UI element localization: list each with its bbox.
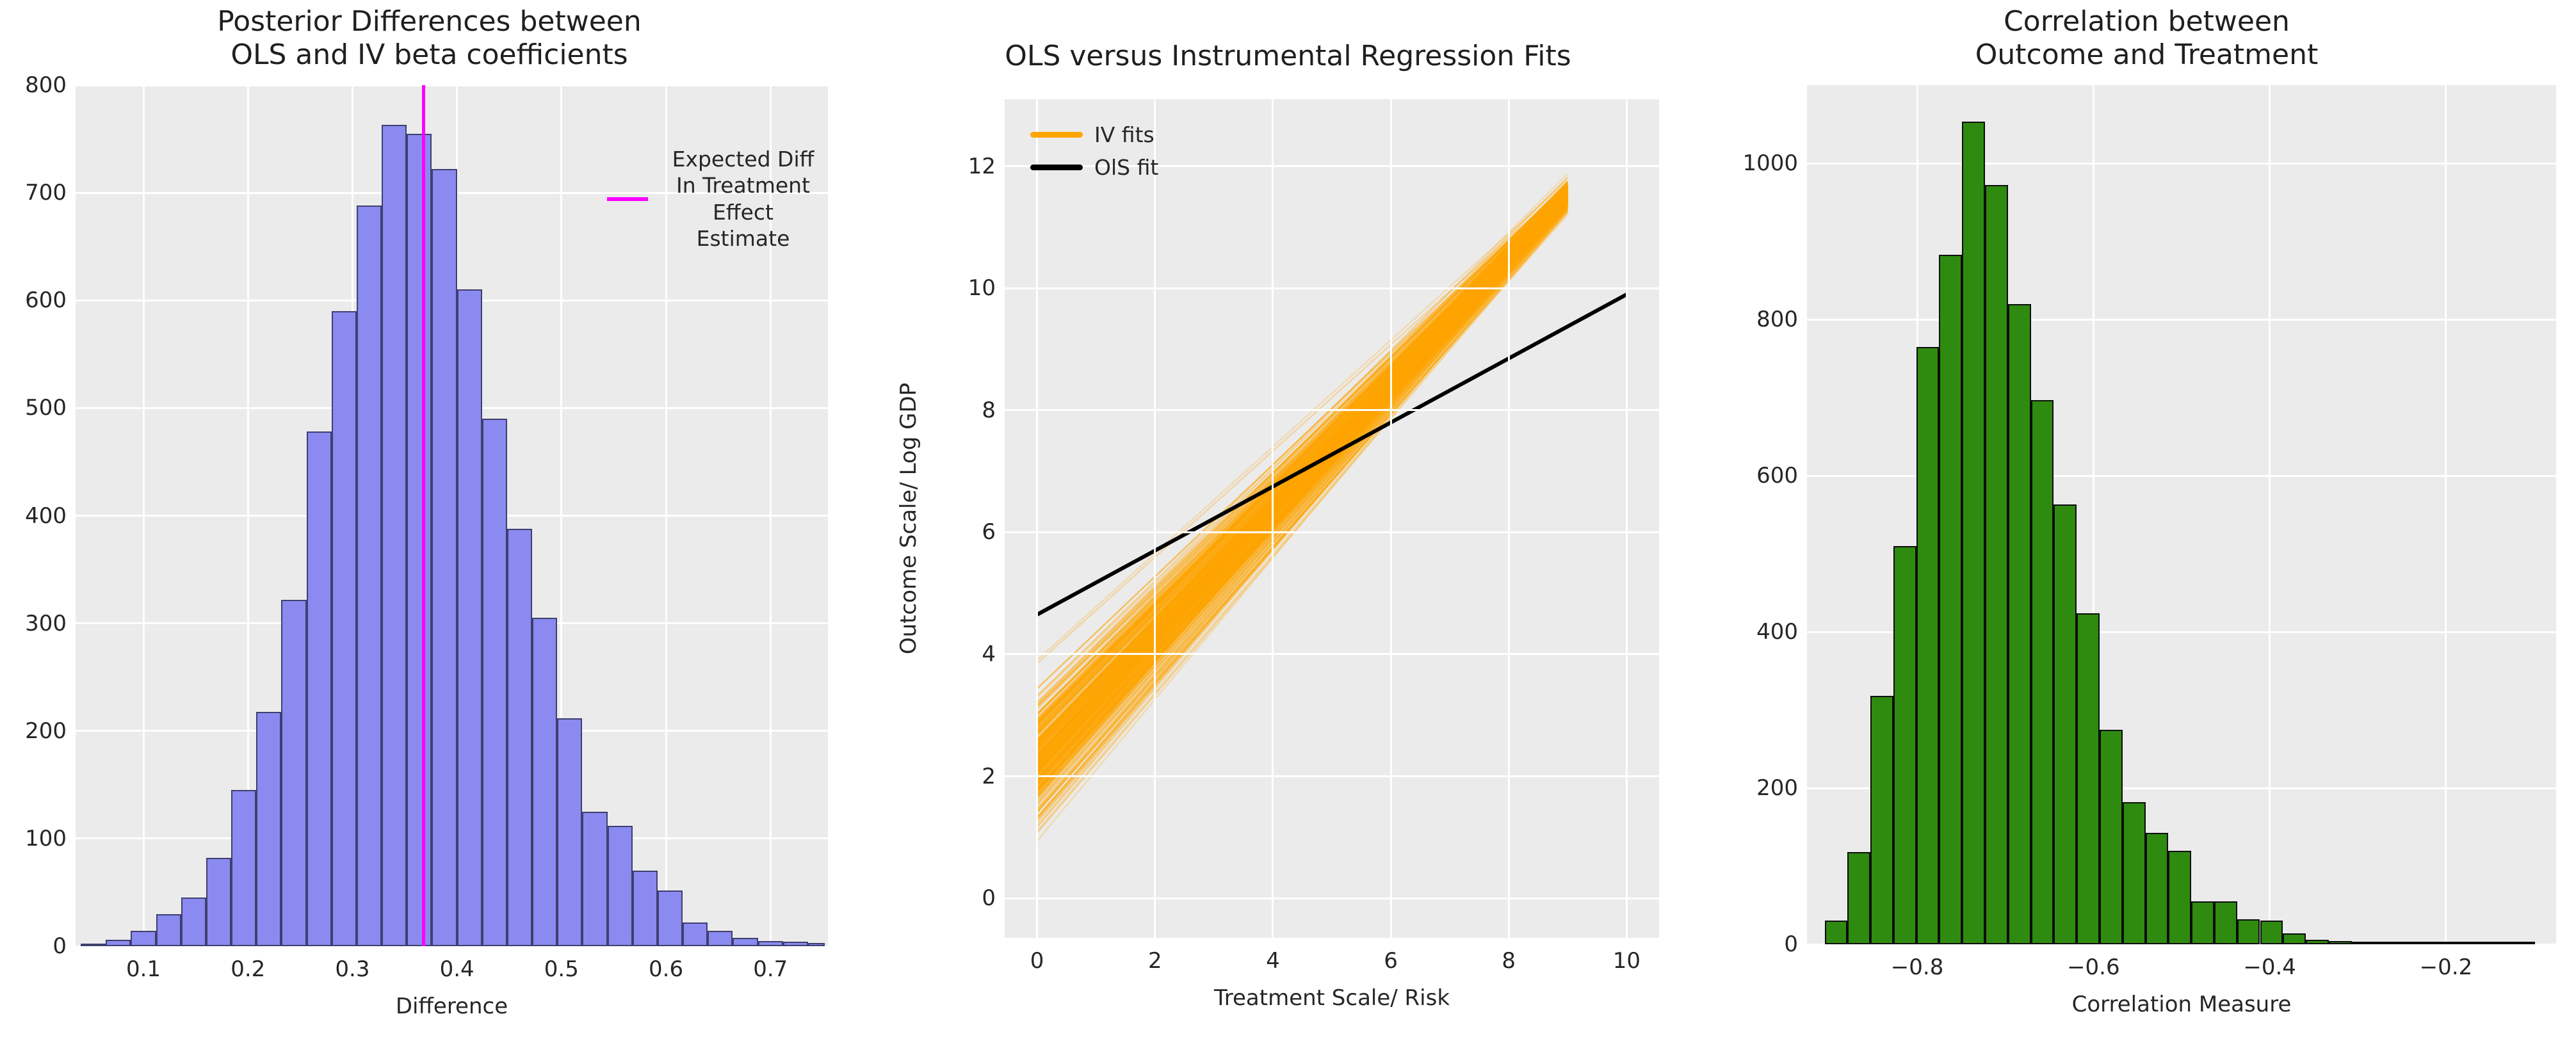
y-axis-tick-label: 12 (968, 154, 996, 179)
histogram-bar (156, 914, 181, 946)
histogram-bar (1870, 696, 1893, 944)
gridline-horizontal (1005, 898, 1659, 899)
histogram-bar (1962, 122, 1985, 944)
panel1-title: Posterior Differences between OLS and IV… (0, 5, 859, 72)
iv-fits-legend-label: IV fits (1094, 122, 1154, 148)
gridline-vertical (1626, 99, 1628, 938)
y-axis-tick-label: 1000 (1742, 150, 1798, 176)
gridline-horizontal (1005, 409, 1659, 411)
histogram-bar (1825, 921, 1848, 944)
y-axis-tick-label: 200 (1756, 775, 1798, 801)
panel2-y-axis-label: Outcome Scale/ Log GDP (896, 383, 921, 654)
histogram-bar (382, 125, 407, 946)
panel2-x-axis-label: Treatment Scale/ Risk (1005, 985, 1659, 1011)
histogram-bar (106, 940, 131, 946)
x-axis-tick-label: 0.7 (753, 956, 788, 982)
histogram-bar (2168, 851, 2191, 944)
panel3-axes-background (1807, 85, 2556, 944)
histogram-bar (507, 529, 532, 946)
histogram-bar (2123, 802, 2146, 944)
histogram-bar (1893, 546, 1916, 944)
y-axis-tick-label: 200 (25, 718, 67, 744)
panel2-plot-area: IV fits OlS fit Treatment Scale/ Risk Ou… (1005, 99, 1659, 938)
panel2-axes-background (1005, 99, 1659, 938)
histogram-bar (2329, 941, 2352, 944)
panel2-title: OLS versus Instrumental Regression Fits (859, 40, 1717, 73)
x-axis-tick-label: −0.6 (2067, 954, 2120, 980)
histogram-bar (2443, 942, 2467, 944)
panel-ols-versus-iv-fits: OLS versus Instrumental Regression Fits … (859, 0, 1717, 1039)
gridline-vertical (1390, 99, 1392, 938)
gridline-horizontal (1005, 653, 1659, 655)
y-axis-tick-label: 400 (25, 503, 67, 529)
histogram-bar (808, 943, 825, 946)
x-axis-tick-label: 0 (1030, 948, 1044, 974)
panel3-x-axis-label: Correlation Measure (1807, 992, 2556, 1017)
y-axis-tick-label: 600 (1756, 463, 1798, 488)
ols-fit-line (1037, 294, 1627, 615)
x-axis-tick-label: 0.3 (335, 956, 369, 982)
histogram-bar (758, 941, 783, 946)
histogram-bar (2489, 942, 2512, 944)
iv-fit-line (1037, 211, 1568, 817)
iv-fits-line-swatch (1030, 132, 1083, 138)
expected-difference-vline (422, 85, 425, 946)
y-axis-tick-label: 500 (25, 395, 67, 421)
expected-diff-line-swatch (607, 197, 648, 201)
histogram-bar (708, 931, 733, 946)
histogram-bar (608, 826, 633, 946)
iv-fit-line (1037, 177, 1568, 696)
iv-fit-line (1037, 197, 1568, 750)
gridline-vertical (2269, 85, 2271, 944)
y-axis-tick-label: 4 (982, 641, 996, 667)
histogram-bar (783, 942, 808, 946)
panel3-title: Correlation between Outcome and Treatmen… (1717, 5, 2576, 72)
y-axis-tick-label: 800 (1756, 307, 1798, 332)
histogram-bar (2397, 942, 2420, 944)
histogram-bar (482, 419, 507, 946)
panel1-legend: Expected Diff In Treatment Effect Estima… (607, 146, 828, 252)
histogram-bar (1985, 185, 2008, 944)
figure-three-panel-regression-diagnostics: Posterior Differences between OLS and IV… (0, 0, 2576, 1039)
gridline-horizontal (1005, 287, 1659, 289)
histogram-bar (407, 134, 432, 946)
histogram-bar (2260, 921, 2283, 944)
histogram-bar (683, 922, 708, 946)
histogram-bar (2512, 942, 2535, 944)
histogram-bar (206, 858, 231, 946)
iv-fit-line (1037, 198, 1568, 769)
gridline-horizontal (1807, 319, 2556, 321)
regression-fit-lines (1005, 99, 1659, 938)
y-axis-tick-label: 0 (982, 885, 996, 911)
histogram-bar (633, 871, 658, 946)
y-axis-tick-label: 0 (53, 933, 67, 959)
y-axis-tick-label: 8 (982, 398, 996, 423)
histogram-bar (131, 931, 156, 946)
histogram-bar (532, 618, 557, 946)
x-axis-tick-label: 0.5 (544, 956, 579, 982)
ols-fit-line-swatch (1030, 165, 1083, 170)
x-axis-tick-label: −0.4 (2243, 954, 2296, 980)
x-axis-tick-label: 2 (1148, 948, 1162, 974)
y-axis-tick-label: 400 (1756, 619, 1798, 645)
x-axis-tick-label: 10 (1613, 948, 1640, 974)
histogram-bar (1847, 852, 1870, 944)
histogram-bar (307, 431, 332, 946)
iv-fit-line (1037, 197, 1568, 756)
gridline-vertical (143, 85, 145, 946)
panel1-x-axis-label: Difference (76, 994, 828, 1019)
panel2-legend: IV fits OlS fit (1030, 122, 1158, 181)
histogram-bar (1939, 255, 1962, 944)
panel-posterior-differences: Posterior Differences between OLS and IV… (0, 0, 859, 1039)
histogram-bar (432, 169, 457, 946)
panel3-plot-area: Correlation Measure 02004006008001000−0.… (1807, 85, 2556, 944)
histogram-bar (231, 790, 256, 946)
y-axis-tick-label: 300 (25, 611, 67, 636)
y-axis-tick-label: 10 (968, 275, 996, 301)
iv-fit-line (1037, 177, 1568, 714)
histogram-bar (2352, 942, 2375, 944)
histogram-bar (733, 938, 757, 946)
x-axis-tick-label: −0.2 (2420, 954, 2473, 980)
histogram-bar (2077, 613, 2100, 944)
gridline-vertical (1154, 99, 1156, 938)
expected-diff-legend-label: Expected Diff In Treatment Effect Estima… (658, 146, 828, 252)
histogram-bar (2008, 304, 2031, 944)
gridline-vertical (1036, 99, 1038, 938)
x-axis-tick-label: 0.6 (649, 956, 683, 982)
histogram-bar (1916, 347, 1940, 944)
histogram-bar (457, 289, 482, 946)
histogram-bar (658, 890, 683, 946)
histogram-bar (332, 311, 357, 946)
gridline-horizontal (1005, 531, 1659, 533)
x-axis-tick-label: 4 (1266, 948, 1280, 974)
histogram-bar (256, 712, 281, 947)
histogram-bar (2374, 942, 2397, 944)
iv-fit-line (1037, 195, 1568, 741)
histogram-bar (81, 944, 106, 946)
histogram-bar (557, 718, 582, 946)
gridline-horizontal (76, 85, 828, 86)
histogram-bar (2191, 901, 2214, 944)
histogram-bar (2306, 940, 2329, 944)
panel1-plot-area: Expected Diff In Treatment Effect Estima… (76, 85, 828, 946)
legend-item-iv-fits: IV fits (1030, 122, 1158, 148)
iv-fit-line (1037, 188, 1568, 723)
histogram-bar (2283, 933, 2306, 944)
histogram-bar (2420, 942, 2443, 944)
y-axis-tick-label: 100 (25, 826, 67, 851)
panel-correlation-outcome-treatment: Correlation between Outcome and Treatmen… (1717, 0, 2576, 1039)
histogram-bar (2146, 833, 2169, 944)
x-axis-tick-label: 0.1 (126, 956, 161, 982)
ols-fit-legend-label: OlS fit (1094, 154, 1158, 181)
histogram-bar (2214, 901, 2237, 944)
iv-fit-line (1037, 180, 1568, 660)
iv-fit-line (1037, 173, 1568, 704)
legend-item-ols-fit: OlS fit (1030, 154, 1158, 181)
gridline-horizontal (1005, 775, 1659, 777)
histogram-bar (582, 812, 607, 946)
histogram-bar (2467, 942, 2490, 944)
gridline-horizontal (1807, 163, 2556, 165)
x-axis-tick-label: 6 (1384, 948, 1398, 974)
histogram-bar (2054, 504, 2077, 944)
histogram-bar (357, 205, 382, 946)
histogram-bar (181, 898, 206, 946)
y-axis-tick-label: 6 (982, 519, 996, 545)
x-axis-tick-label: 0.4 (440, 956, 474, 982)
gridline-vertical (1508, 99, 1510, 938)
gridline-vertical (2445, 85, 2447, 944)
histogram-bar (281, 600, 306, 946)
histogram-bar (2031, 400, 2054, 944)
histogram-bar (2100, 730, 2123, 945)
y-axis-tick-label: 800 (25, 72, 67, 98)
y-axis-tick-label: 2 (982, 764, 996, 789)
gridline-vertical (1272, 99, 1274, 938)
histogram-bar (2237, 919, 2260, 944)
y-axis-tick-label: 600 (25, 287, 67, 313)
y-axis-tick-label: 0 (1784, 931, 1798, 957)
x-axis-tick-label: 8 (1502, 948, 1516, 974)
x-axis-tick-label: −0.8 (1891, 954, 1944, 980)
x-axis-tick-label: 0.2 (231, 956, 265, 982)
y-axis-tick-label: 700 (25, 180, 67, 205)
